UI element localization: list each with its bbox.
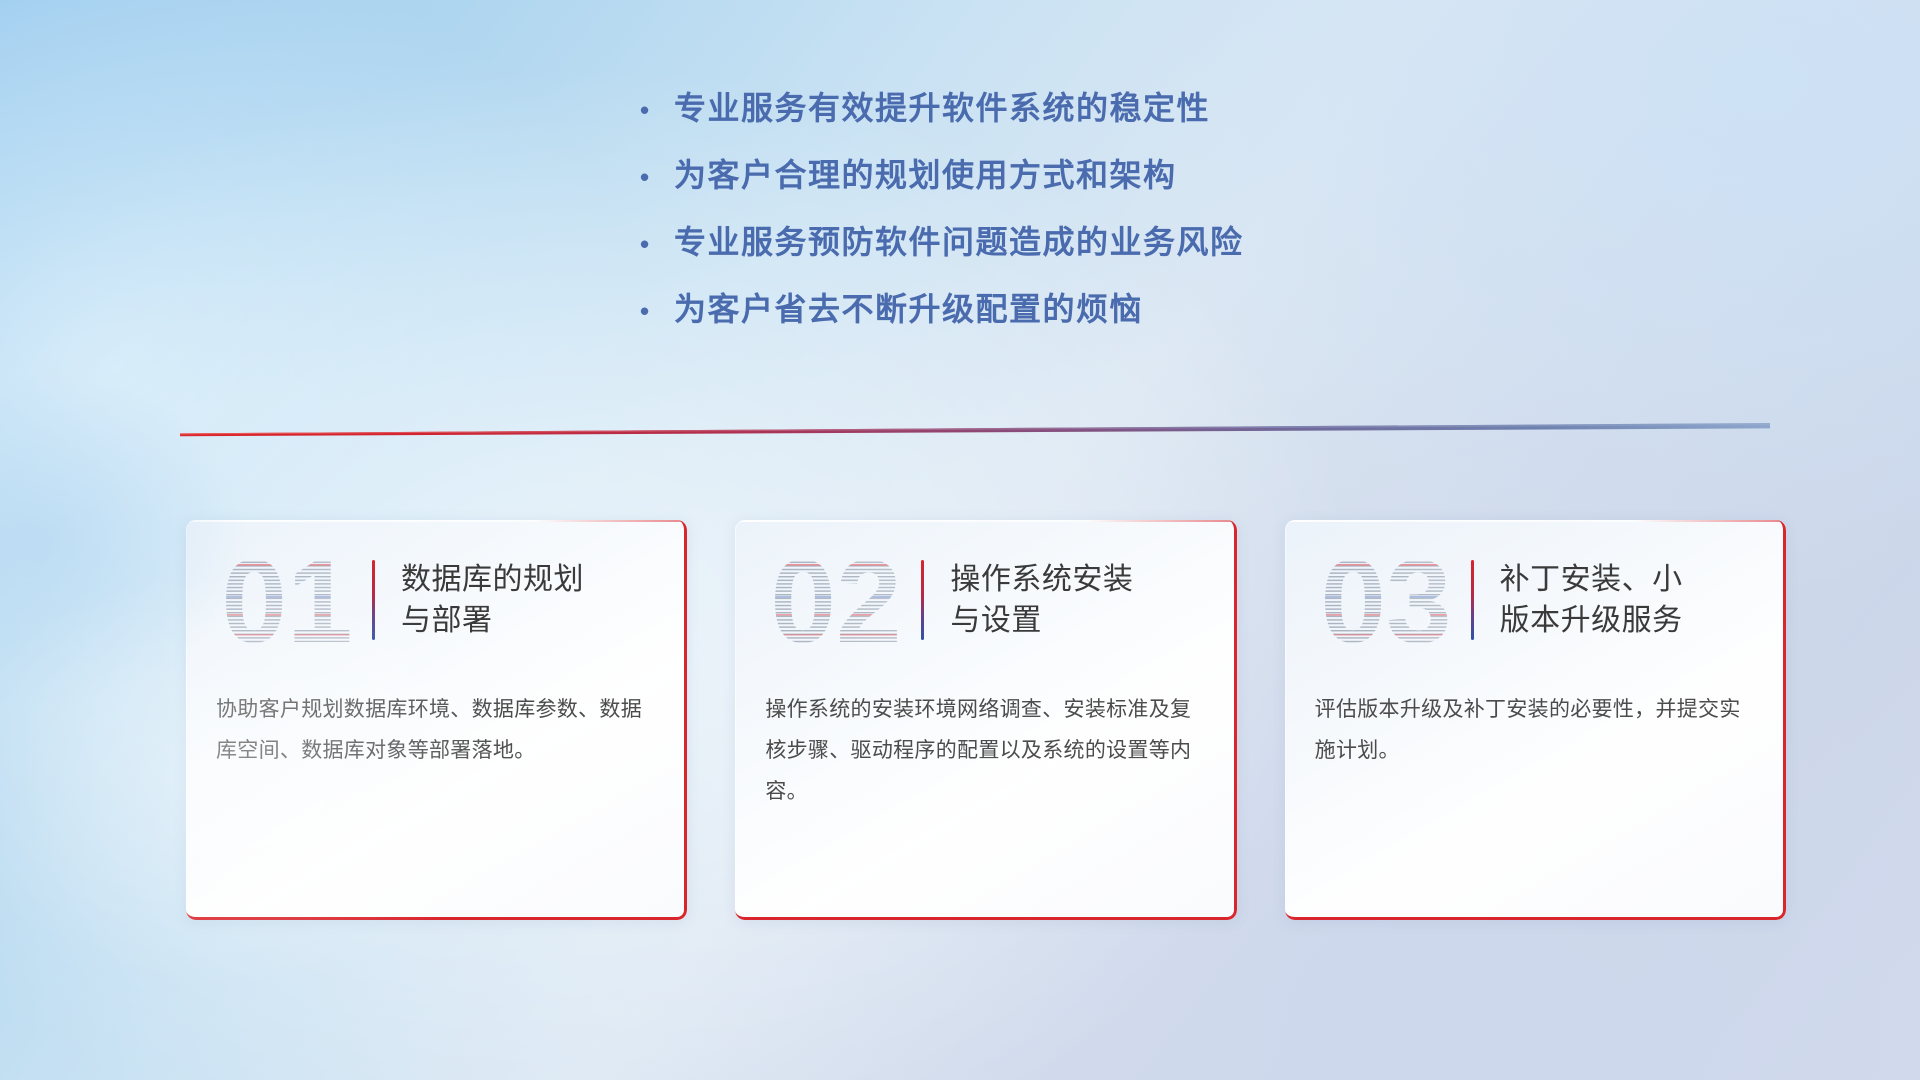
bullet-label: 专业服务有效提升软件系统的稳定性 xyxy=(674,88,1400,128)
bullet-dot-icon: • xyxy=(640,97,674,123)
card-description: 操作系统的安装环境网络调查、安装标准及复核步骤、驱动程序的配置以及系统的设置等内… xyxy=(735,690,1236,813)
service-card[interactable]: 01数据库的规划与部署协助客户规划数据库环境、数据库参数、数据库空间、数据库对象… xyxy=(186,520,687,920)
card-title-line-2: 版本升级服务 xyxy=(1500,600,1760,641)
card-title-line-2: 与设置 xyxy=(950,600,1210,641)
card-title-line-1: 补丁安装、小 xyxy=(1500,559,1760,600)
card-title: 操作系统安装与设置 xyxy=(950,559,1210,642)
card-number-watermark: 01 xyxy=(212,538,362,662)
card-title-line-1: 操作系统安装 xyxy=(950,559,1210,600)
bullet-dot-icon: • xyxy=(640,231,674,257)
card-title: 补丁安装、小版本升级服务 xyxy=(1500,559,1760,642)
bullet-item: •专业服务有效提升软件系统的稳定性 xyxy=(640,88,1400,128)
card-title: 数据库的规划与部署 xyxy=(401,559,661,642)
bullet-item: •为客户合理的规划使用方式和架构 xyxy=(640,155,1400,195)
service-card[interactable]: 02操作系统安装与设置操作系统的安装环境网络调查、安装标准及复核步骤、驱动程序的… xyxy=(735,520,1236,920)
slide-canvas: •专业服务有效提升软件系统的稳定性•为客户合理的规划使用方式和架构•专业服务预防… xyxy=(0,0,1920,1080)
card-header: 03补丁安装、小版本升级服务 xyxy=(1285,520,1786,680)
bullet-item: •为客户省去不断升级配置的烦恼 xyxy=(640,289,1400,329)
bullet-item: •专业服务预防软件问题造成的业务风险 xyxy=(640,222,1400,262)
card-title-line-1: 数据库的规划 xyxy=(401,559,661,600)
bullet-label: 专业服务预防软件问题造成的业务风险 xyxy=(674,222,1400,262)
benefit-bullet-list: •专业服务有效提升软件系统的稳定性•为客户合理的规划使用方式和架构•专业服务预防… xyxy=(640,88,1400,356)
card-description: 协助客户规划数据库环境、数据库参数、数据库空间、数据库对象等部署落地。 xyxy=(186,690,687,772)
bullet-dot-icon: • xyxy=(640,164,674,190)
section-divider xyxy=(180,418,1770,440)
bullet-dot-icon: • xyxy=(640,298,674,324)
bullet-label: 为客户合理的规划使用方式和架构 xyxy=(674,155,1400,195)
card-title-accent-bar xyxy=(372,560,375,640)
card-title-accent-bar xyxy=(921,560,924,640)
card-number-watermark: 02 xyxy=(761,538,911,662)
card-title-line-2: 与部署 xyxy=(401,600,661,641)
card-title-accent-bar xyxy=(1471,560,1474,640)
card-number-watermark: 03 xyxy=(1311,538,1461,662)
card-description: 评估版本升级及补丁安装的必要性，并提交实施计划。 xyxy=(1285,690,1786,772)
bullet-label: 为客户省去不断升级配置的烦恼 xyxy=(674,289,1400,329)
service-card-row: 01数据库的规划与部署协助客户规划数据库环境、数据库参数、数据库空间、数据库对象… xyxy=(186,520,1786,920)
card-header: 01数据库的规划与部署 xyxy=(186,520,687,680)
card-header: 02操作系统安装与设置 xyxy=(735,520,1236,680)
service-card[interactable]: 03补丁安装、小版本升级服务评估版本升级及补丁安装的必要性，并提交实施计划。 xyxy=(1285,520,1786,920)
